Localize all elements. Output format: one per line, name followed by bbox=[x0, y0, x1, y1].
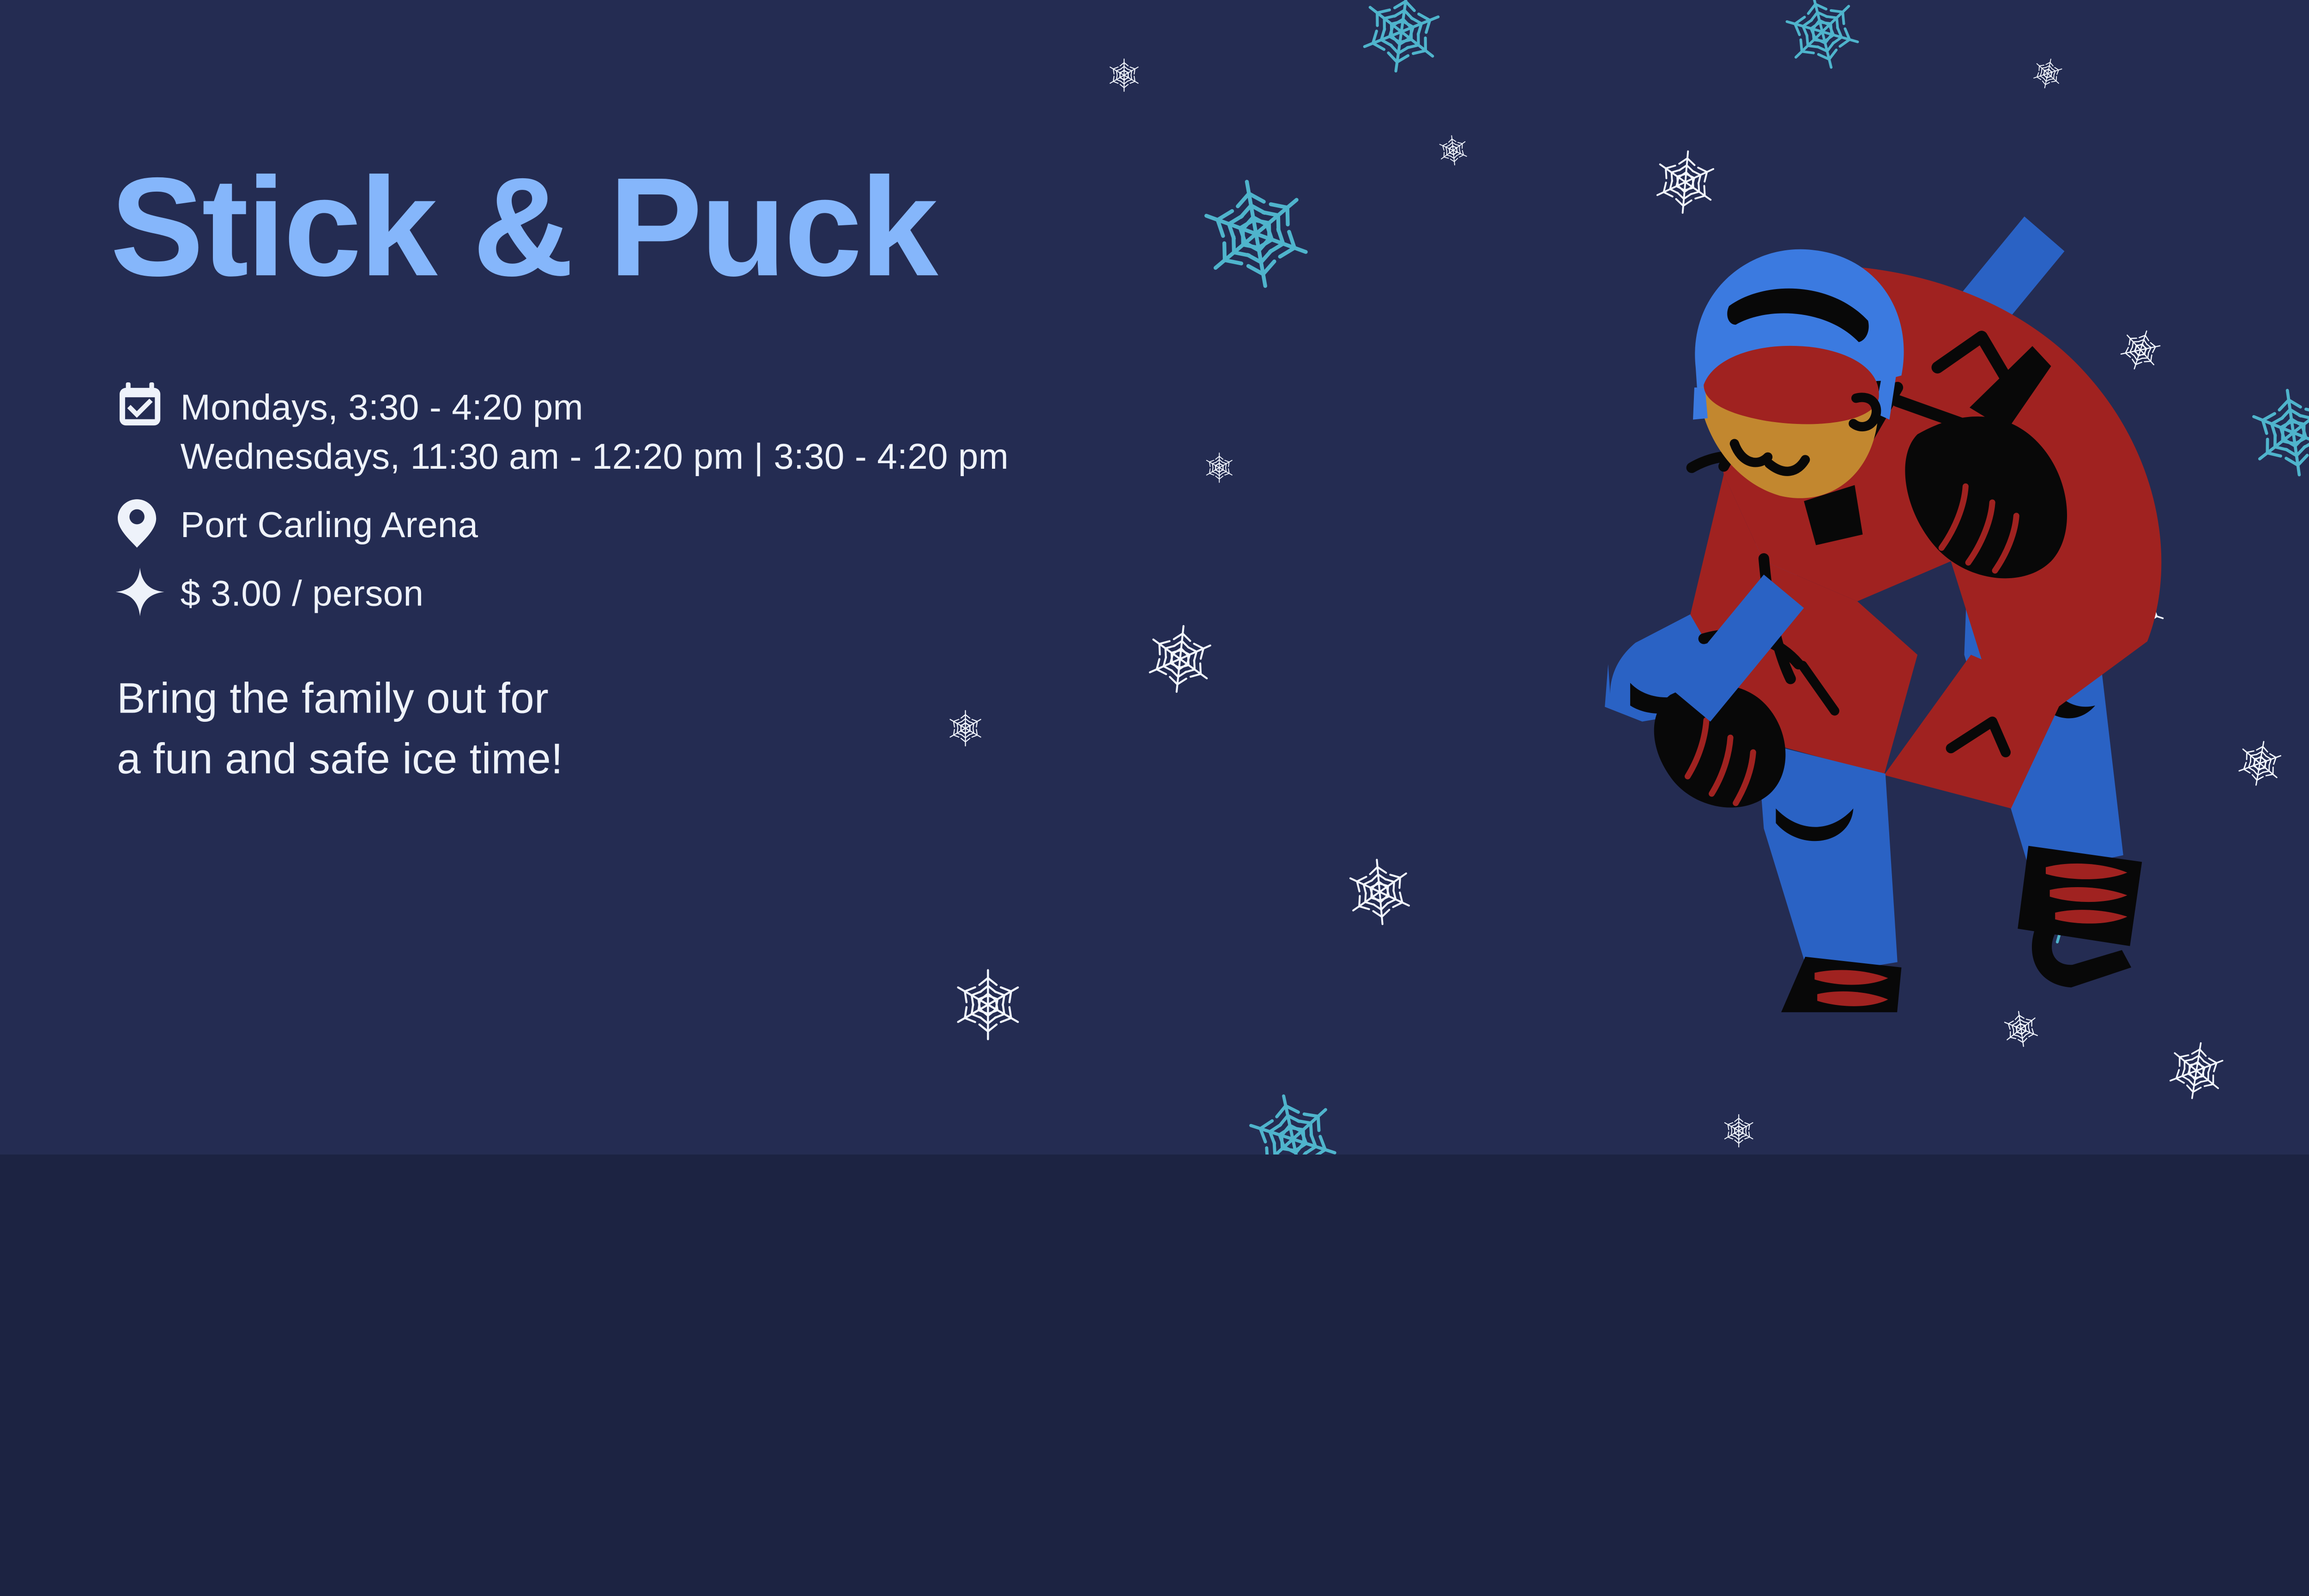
snowflake-icon bbox=[1435, 132, 1472, 169]
price-text: $ 3.00 / person bbox=[181, 567, 424, 618]
schedule-text: Mondays, 3:30 - 4:20 pm Wednesdays, 11:3… bbox=[181, 381, 1009, 481]
snowflake-icon bbox=[1350, 0, 1452, 83]
price-value: $ 3.00 / person bbox=[181, 569, 424, 618]
info-row-schedule: Mondays, 3:30 - 4:20 pm Wednesdays, 11:3… bbox=[110, 381, 1413, 481]
page-title: Stick & Puck bbox=[110, 157, 1413, 297]
calendar-check-icon bbox=[110, 381, 181, 431]
snowflake-icon bbox=[1771, 0, 1873, 82]
tagline-line-2: a fun and safe ice time! bbox=[117, 729, 1413, 789]
tagline-line-1: Bring the family out for bbox=[117, 668, 1413, 728]
snowflake-icon bbox=[1998, 1006, 2043, 1052]
snowflake-icon bbox=[1106, 57, 1142, 94]
map-pin-icon bbox=[110, 498, 181, 549]
info-row-location: Port Carling Arena bbox=[110, 498, 1413, 550]
schedule-line-monday: Mondays, 3:30 - 4:20 pm bbox=[181, 383, 1009, 432]
snowflake-icon bbox=[1233, 1080, 1352, 1155]
stick-and-puck-promo-poster: Stick & Puck Mondays, 3:30 - 4:20 pm Wed… bbox=[0, 0, 2309, 1155]
text-content-column: Stick & Puck Mondays, 3:30 - 4:20 pm Wed… bbox=[110, 157, 1413, 789]
sparkle-icon bbox=[110, 567, 181, 617]
snowflake-icon bbox=[2028, 54, 2067, 93]
snowflake-icon bbox=[2160, 1034, 2233, 1107]
snowflake-icon bbox=[949, 966, 1027, 1044]
tagline: Bring the family out for a fun and safe … bbox=[117, 668, 1413, 789]
snowflake-icon bbox=[1720, 1112, 1757, 1149]
event-info-list: Mondays, 3:30 - 4:20 pm Wednesdays, 11:3… bbox=[110, 381, 1413, 618]
location-text: Port Carling Arena bbox=[181, 498, 478, 550]
location-name: Port Carling Arena bbox=[181, 500, 478, 549]
schedule-line-wednesday: Wednesdays, 11:30 am - 12:20 pm | 3:30 -… bbox=[181, 432, 1009, 481]
ice-skate-icon-left bbox=[1767, 957, 1902, 1012]
hockey-player-illustration bbox=[1296, 187, 2309, 1012]
ice-skate-icon-right bbox=[2018, 846, 2142, 988]
info-row-price: $ 3.00 / person bbox=[110, 567, 1413, 618]
